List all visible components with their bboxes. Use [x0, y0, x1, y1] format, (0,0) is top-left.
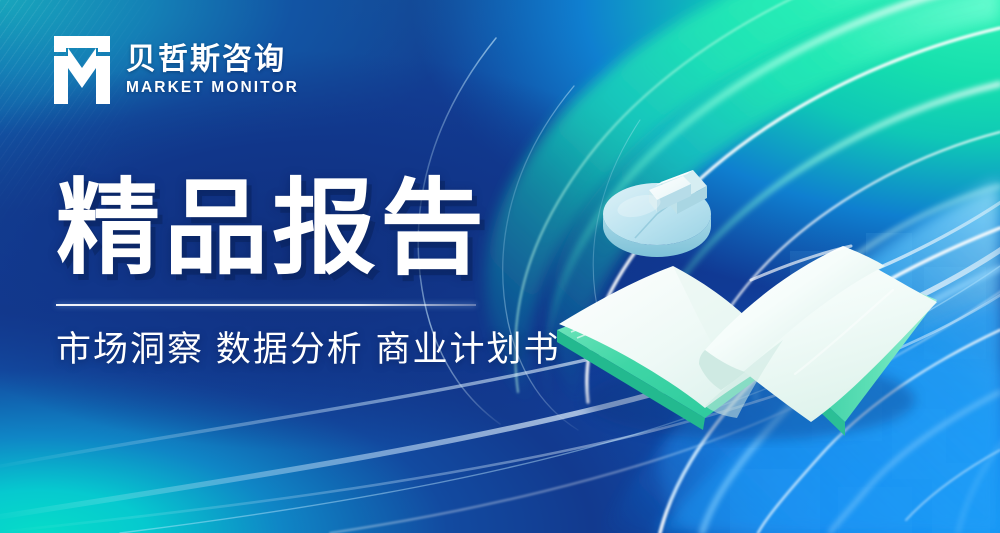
brand-logo-text: 贝哲斯咨询 MARKET MONITOR: [126, 45, 299, 96]
brand-name-en: MARKET MONITOR: [126, 80, 299, 96]
market-monitor-m-mark-icon: [52, 34, 112, 106]
brand-name-cn: 贝哲斯咨询: [126, 45, 299, 75]
open-book-illustration: [545, 150, 945, 450]
headline-block: 精品报告 市场洞察 数据分析 商业计划书: [56, 176, 576, 370]
report-banner: 贝哲斯咨询 MARKET MONITOR 精品报告 市场洞察 数据分析 商业计划…: [0, 0, 1000, 533]
subtitle: 市场洞察 数据分析 商业计划书: [56, 331, 576, 370]
brand-logo[interactable]: 贝哲斯咨询 MARKET MONITOR: [52, 34, 299, 106]
title-divider: [56, 304, 476, 306]
page-title: 精品报告: [56, 176, 576, 282]
